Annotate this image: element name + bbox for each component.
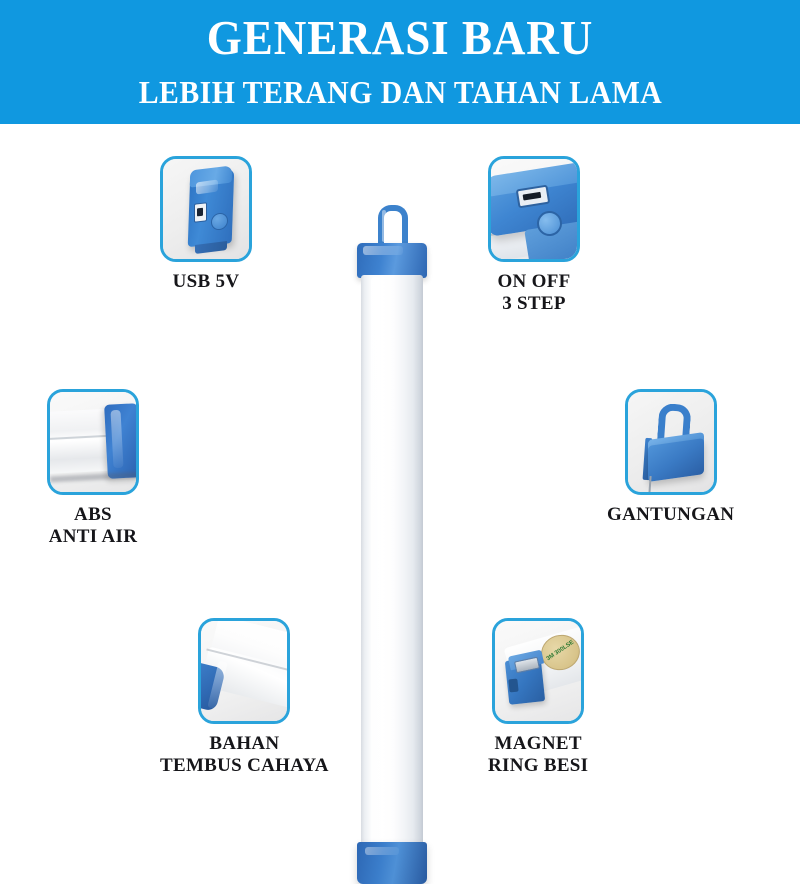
product-top-cap-highlight: [363, 246, 403, 255]
feature-abs-anti-air-frame: [47, 389, 139, 495]
feature-on-off-3-step: ON OFF 3 STEP: [488, 156, 580, 316]
translucent-diffuser-icon: [201, 621, 287, 721]
feature-bahan-tembus-cahaya: BAHAN TEMBUS CAHAYA: [160, 618, 329, 778]
product-image-led-tube-light: [345, 205, 445, 700]
feature-usb-5v: USB 5V: [160, 156, 252, 293]
feature-magnet-ring-besi-label: MAGNET RING BESI: [488, 733, 588, 778]
feature-usb-5v-label: USB 5V: [173, 271, 240, 293]
page-title: GENERASI BARU: [207, 13, 593, 62]
magnet-adhesive-icon: 3M 300LSE: [495, 621, 581, 721]
feature-abs-anti-air: ABS ANTI AIR: [47, 389, 139, 549]
header-banner: GENERASI BARU LEBIH TERANG DAN TAHAN LAM…: [0, 0, 800, 124]
feature-bahan-tembus-cahaya-label: BAHAN TEMBUS CAHAYA: [160, 733, 329, 778]
feature-gantungan-frame: [625, 389, 717, 495]
hanging-hook-icon: [628, 392, 714, 492]
feature-magnet-ring-besi: 3M 300LSE MAGNET RING BESI: [488, 618, 588, 778]
usb-endcap-icon: [163, 159, 249, 259]
feature-on-off-3-step-label: ON OFF 3 STEP: [497, 271, 570, 316]
abs-housing-icon: [50, 392, 136, 492]
product-tube-gloss: [371, 277, 380, 855]
power-button-endcap-icon: [491, 159, 577, 259]
feature-abs-anti-air-label: ABS ANTI AIR: [49, 504, 137, 549]
adhesive-brand-text: 3M 300LSE: [546, 640, 576, 663]
feature-gantungan: GANTUNGAN: [607, 389, 734, 526]
product-bottom-cap-highlight: [365, 847, 399, 855]
page-subtitle: LEBIH TERANG DAN TAHAN LAMA: [138, 76, 662, 108]
feature-gantungan-label: GANTUNGAN: [607, 504, 734, 526]
product-hook-highlight: [382, 210, 386, 242]
feature-magnet-ring-besi-frame: 3M 300LSE: [492, 618, 584, 724]
feature-on-off-3-step-frame: [488, 156, 580, 262]
feature-bahan-tembus-cahaya-frame: [198, 618, 290, 724]
feature-usb-5v-frame: [160, 156, 252, 262]
